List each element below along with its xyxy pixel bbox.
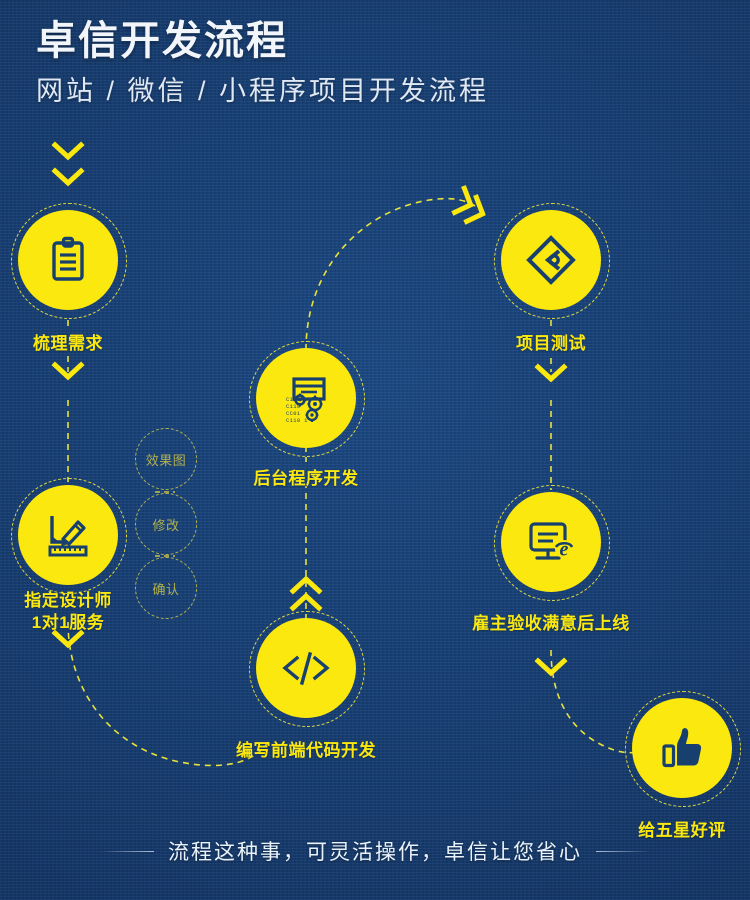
footer-rule-left xyxy=(100,851,154,852)
subcircle-loop-confirm-label: 确认 xyxy=(152,579,179,598)
node-disc[interactable]: C1 0 C110 CC01 C110 1 xyxy=(256,348,356,448)
header: 卓信开发流程 网站 / 微信 / 小程序项目开发流程 xyxy=(36,16,696,109)
page-subtitle: 网站 / 微信 / 小程序项目开发流程 xyxy=(36,74,696,109)
clipboard-icon xyxy=(42,234,94,286)
label-step-designer: 指定设计师 1对1服务 xyxy=(0,590,141,634)
arrow-designer-to-frontend xyxy=(55,633,81,645)
label-step-launch: 雇主验收满意后上线 xyxy=(451,613,651,635)
node-step-testing[interactable] xyxy=(501,210,601,310)
pencil-ruler-icon xyxy=(41,508,95,562)
node-step-requirements[interactable] xyxy=(18,210,118,310)
label-step-designer-line1: 指定设计师 xyxy=(0,590,141,612)
node-disc[interactable] xyxy=(632,698,732,798)
subcircle-loop-confirm[interactable]: 确认 xyxy=(135,557,197,619)
node-disc[interactable] xyxy=(18,485,118,585)
node-disc[interactable] xyxy=(18,210,118,310)
subcircle-loop-revise[interactable]: 修改 xyxy=(135,493,197,555)
path-backend-to-testing xyxy=(306,199,486,350)
svg-text:C110 1: C110 1 xyxy=(286,418,308,424)
label-step-backend: 后台程序开发 xyxy=(225,468,387,490)
node-step-designer[interactable] xyxy=(18,485,118,585)
node-disc[interactable]: e xyxy=(501,492,601,592)
node-step-backend[interactable]: C1 0 C110 CC01 C110 1 xyxy=(256,348,356,448)
arrow-entry-top xyxy=(55,145,81,183)
arrow-requirements-to-designer xyxy=(55,365,81,377)
svg-text:CC01: CC01 xyxy=(286,411,301,417)
footer: 流程这种事，可灵活操作，卓信让您省心 xyxy=(0,836,750,866)
footer-rule-right xyxy=(596,851,650,852)
subcircle-loop-mockup-label: 效果图 xyxy=(146,450,187,469)
node-step-review[interactable] xyxy=(632,698,732,798)
node-disc[interactable] xyxy=(256,618,356,718)
label-step-requirements: 梳理需求 xyxy=(0,333,136,355)
arrow-backend-to-testing xyxy=(293,188,488,368)
monitor-browser-icon: e xyxy=(523,514,579,570)
svg-text:e: e xyxy=(560,539,569,561)
gears-code-icon: C1 0 C110 CC01 C110 1 xyxy=(279,371,333,425)
subcircle-loop-mockup[interactable]: 效果图 xyxy=(135,428,197,490)
label-step-designer-line2: 1对1服务 xyxy=(0,612,141,634)
poster-root: 卓信开发流程 网站 / 微信 / 小程序项目开发流程 xyxy=(0,0,750,900)
node-disc[interactable] xyxy=(501,210,601,310)
node-step-frontend[interactable] xyxy=(256,618,356,718)
label-step-frontend: 编写前端代码开发 xyxy=(205,740,407,762)
diamond-target-icon xyxy=(523,232,579,288)
arrow-testing-to-launch xyxy=(538,367,564,379)
path-launch-to-review xyxy=(551,650,638,753)
svg-text:C1 0: C1 0 xyxy=(286,397,301,403)
arrow-frontend-to-backend xyxy=(293,579,319,608)
thumbs-up-icon xyxy=(655,721,709,775)
code-brackets-icon xyxy=(278,640,334,696)
node-step-launch[interactable]: e xyxy=(501,492,601,592)
footer-slogan: 流程这种事，可灵活操作，卓信让您省心 xyxy=(168,836,582,866)
arrow-launch-to-review xyxy=(538,661,564,673)
page-title: 卓信开发流程 xyxy=(36,16,696,66)
subcircle-loop-revise-label: 修改 xyxy=(152,515,179,534)
label-step-testing: 项目测试 xyxy=(483,333,619,355)
